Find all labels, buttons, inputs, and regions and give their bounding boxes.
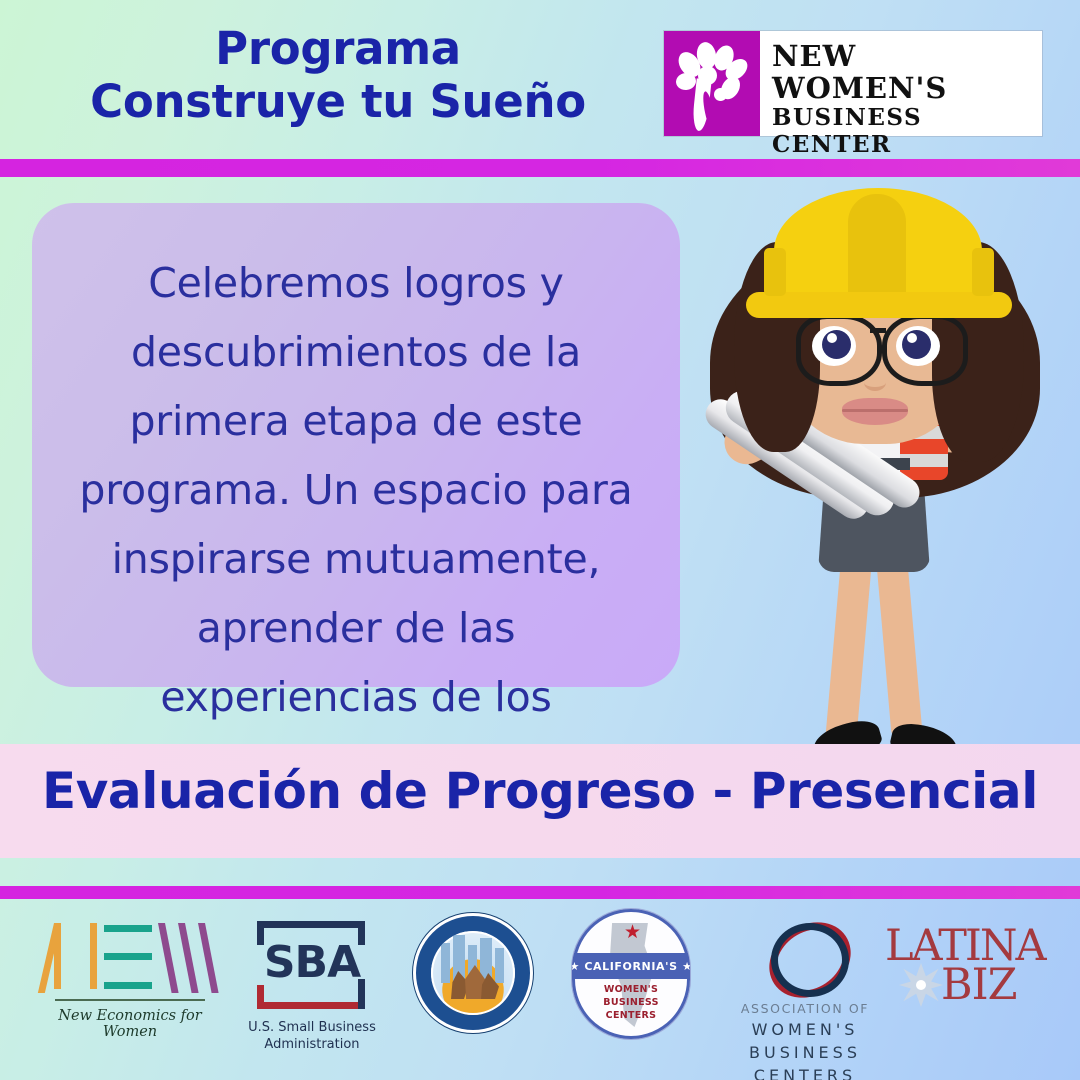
partner-logos-footer: New Economics for Women SBA U.S. Small B… — [0, 899, 1080, 1080]
header: Programa Construye tu Sueño NEW WOMEN'S … — [0, 0, 1080, 159]
sba-logo: SBA U.S. Small Business Administration — [232, 899, 392, 1080]
hard-hat-clip-left — [764, 248, 786, 296]
cawbc-banner-label: ★ CALIFORNIA'S ★ — [572, 953, 690, 979]
nose — [864, 374, 886, 391]
hard-hat-ridge — [848, 194, 906, 306]
leg-right — [876, 555, 923, 742]
title-line-1: Programa — [48, 22, 628, 75]
calosba-seal-icon — [413, 913, 533, 1033]
nwbc-tree-icon — [664, 31, 760, 136]
awbc-line-3: BUSINESS — [716, 1041, 894, 1064]
new-economics-for-women-logo: New Economics for Women — [40, 899, 220, 1080]
cawbc-sub-line-1: WOMEN'S BUSINESS — [580, 983, 682, 1009]
quote-card: Celebremos logros y descubrimientos de l… — [32, 203, 680, 687]
poster-canvas: Programa Construye tu Sueño NEW WOMEN'S … — [0, 0, 1080, 1080]
californias-womens-business-centers-seal: ★ ★ CALIFORNIA'S ★ WOMEN'S BUSINESS CENT… — [556, 899, 706, 1080]
page-title: Programa Construye tu Sueño — [48, 22, 628, 128]
sba-caption: U.S. Small Business Administration — [232, 1019, 392, 1053]
sba-caption-line-2: Administration — [232, 1036, 392, 1053]
lip-line — [842, 409, 908, 412]
sba-caption-line-1: U.S. Small Business — [232, 1019, 392, 1036]
new-wordmark-icon — [50, 923, 210, 995]
california-office-of-the-small-business-advocate-seal — [398, 899, 548, 1080]
awbc-line-1: ASSOCIATION OF — [716, 999, 894, 1018]
association-of-womens-business-centers-logo: ASSOCIATION OF WOMEN'S BUSINESS CENTERS — [716, 899, 894, 1080]
ornamental-star-center-icon — [916, 980, 926, 990]
title-line-2: Construye tu Sueño — [48, 75, 628, 128]
new-logo-caption: New Economics for Women — [40, 1008, 220, 1040]
awbc-rings-icon — [759, 915, 851, 993]
new-logo-rule — [55, 999, 205, 1001]
star-icon: ★ — [624, 923, 641, 942]
cawbc-seal-icon: ★ ★ CALIFORNIA'S ★ WOMEN'S BUSINESS CENT… — [572, 909, 690, 1039]
latina-biz-logo: LATINA BIZ — [878, 899, 1058, 1080]
awbc-line-2: WOMEN'S — [716, 1018, 894, 1041]
cawbc-sub-line-2: CENTERS — [580, 1009, 682, 1022]
latina-biz-line-2: BIZ — [941, 964, 1016, 1007]
nwbc-line-2: BUSINESS CENTER — [772, 104, 1036, 158]
divider-stripe-top — [0, 159, 1080, 177]
sba-mark-icon: SBA — [249, 921, 375, 1009]
leg-left — [825, 555, 872, 747]
glasses-bridge — [870, 328, 886, 333]
divider-stripe-bottom — [0, 886, 1080, 899]
hard-hat-brim — [746, 292, 1012, 318]
nwbc-wordmark: NEW WOMEN'S BUSINESS CENTER Powered by N… — [760, 31, 1042, 136]
hard-hat-clip-right — [972, 248, 994, 296]
glasses-lens-right — [882, 314, 968, 386]
banner-title: Evaluación de Progreso - Presencial — [0, 762, 1080, 820]
sba-wordmark: SBA — [249, 941, 375, 985]
awbc-caption: ASSOCIATION OF WOMEN'S BUSINESS CENTERS — [716, 999, 894, 1080]
new-womens-business-center-logo: NEW WOMEN'S BUSINESS CENTER Powered by N… — [664, 31, 1042, 136]
nwbc-line-1: NEW WOMEN'S — [772, 40, 1036, 104]
awbc-line-4: CENTERS — [716, 1064, 894, 1080]
cawbc-sub-label: WOMEN'S BUSINESS CENTERS — [580, 983, 682, 1022]
calosba-seal-inner — [431, 931, 515, 1015]
latina-biz-mark-icon: LATINA BIZ — [883, 917, 1053, 1022]
woman-construction-engineer-illustration — [688, 186, 1080, 770]
